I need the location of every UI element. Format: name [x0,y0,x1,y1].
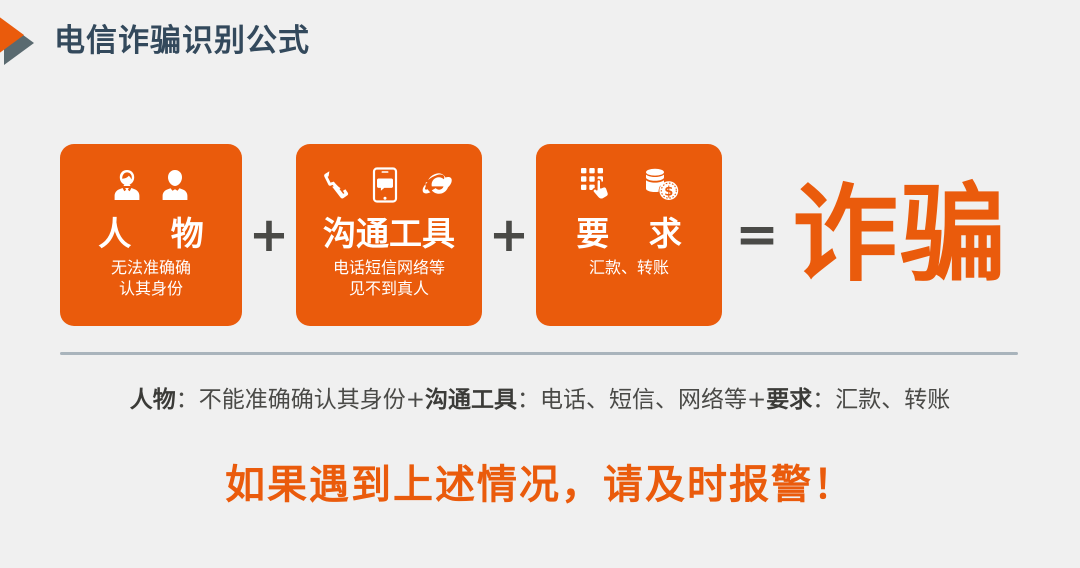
slide-canvas: 电信诈骗识别公式 人 物 无法准确确 认其身份 + [0,0,1080,568]
plus-operator-2: + [482,211,536,259]
card-demand-subtitle: 汇款、转账 [589,257,669,278]
summary-desc-person: ：不能准确确认其身份+ [176,387,425,413]
summary-desc-communication: ：电话、短信、网络等+ [517,387,766,413]
keypad-tap-icon [578,165,618,205]
male-person-icon [160,168,190,202]
card-person-subtitle: 无法准确确 认其身份 [111,257,191,299]
card-communication-subtitle-line-2: 见不到真人 [333,278,445,299]
formula-row: 人 物 无法准确确 认其身份 + [60,144,1020,326]
section-divider [60,352,1018,355]
formula-card-demand[interactable]: $ 要 求 汇款、转账 [536,144,722,326]
card-communication-icons [320,158,458,212]
formula-summary-text: 人物：不能准确确认其身份+沟通工具：电话、短信、网络等+要求：汇款、转账 [0,380,1080,414]
card-demand-subtitle-line-1: 汇款、转账 [589,257,669,278]
money-coins-icon: $ [640,167,680,203]
card-person-icons [112,158,190,212]
card-person-subtitle-line-2: 认其身份 [111,278,191,299]
header: 电信诈骗识别公式 [0,6,310,68]
svg-text:$: $ [664,185,673,200]
card-demand-icons: $ [578,158,680,212]
female-person-icon [112,168,142,202]
card-person-title: 人 物 [84,214,218,254]
summary-term-demand: 要求 [766,387,812,413]
internet-explorer-icon [420,168,458,202]
telephone-handset-icon [320,168,350,202]
formula-card-communication-tool[interactable]: 沟通工具 电话短信网络等 见不到真人 [296,144,482,326]
card-person-subtitle-line-1: 无法准确确 [111,257,191,278]
formula-result: 诈骗 [792,182,1008,288]
page-title: 电信诈骗识别公式 [54,15,310,60]
formula-card-person[interactable]: 人 物 无法准确确 认其身份 [60,144,242,326]
summary-term-person: 人物 [130,387,176,413]
card-communication-subtitle: 电话短信网络等 见不到真人 [333,257,445,299]
equals-operator: = [722,209,792,261]
warning-message: 如果遇到上述情况，请及时报警！ [0,452,1080,510]
summary-desc-demand: ：汇款、转账 [812,387,950,413]
card-communication-title: 沟通工具 [323,214,455,254]
card-demand-title: 要 求 [562,214,696,254]
smartphone-message-icon [372,167,398,203]
plus-operator-1: + [242,211,296,259]
summary-term-communication: 沟通工具 [425,387,517,413]
card-communication-subtitle-line-1: 电话短信网络等 [333,257,445,278]
triangle-right-icon [0,9,42,65]
